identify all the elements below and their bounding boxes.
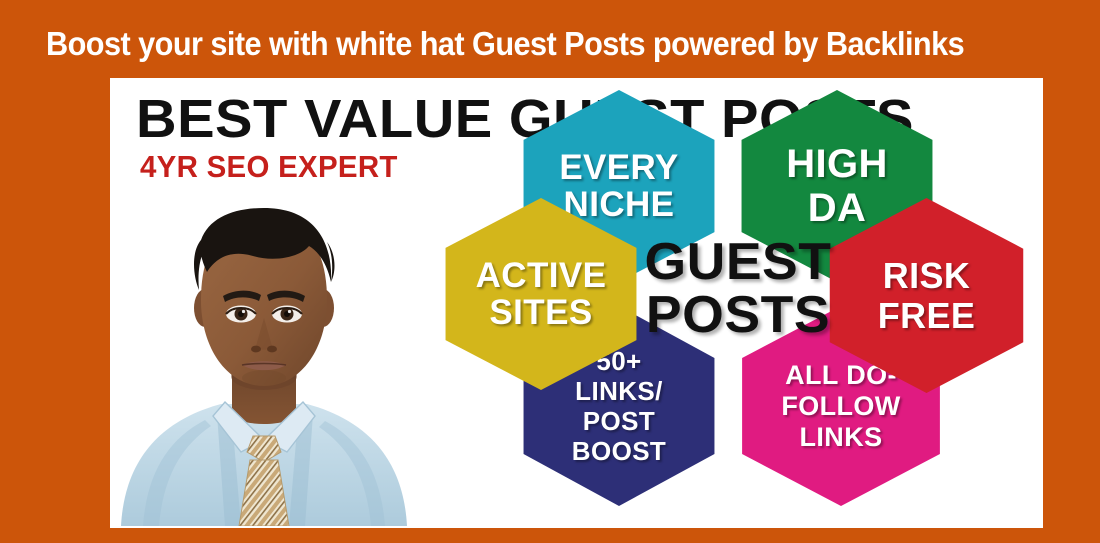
hexagon-every-niche-label: EVERY NICHE — [559, 149, 678, 223]
promo-card: BEST VALUE GUEST POSTS 4YR SEO EXPERT — [110, 78, 1043, 528]
promo-banner: Boost your site with white hat Guest Pos… — [0, 0, 1100, 543]
portrait-illustration — [113, 190, 415, 526]
hexagon-dofollow-links-label: ALL DO- FOLLOW LINKS — [781, 360, 900, 453]
portrait-photo — [113, 190, 415, 526]
hexagon-high-da-label: HIGH DA — [786, 142, 888, 230]
hexagon-cluster: EVERY NICHE HIGH DA ACTIVE SITES RISK FR… — [430, 78, 1043, 528]
card-subheading: 4YR SEO EXPERT — [140, 150, 398, 184]
banner-headline: Boost your site with white hat Guest Pos… — [46, 20, 1069, 68]
center-headline: GUEST POSTS — [553, 236, 924, 342]
